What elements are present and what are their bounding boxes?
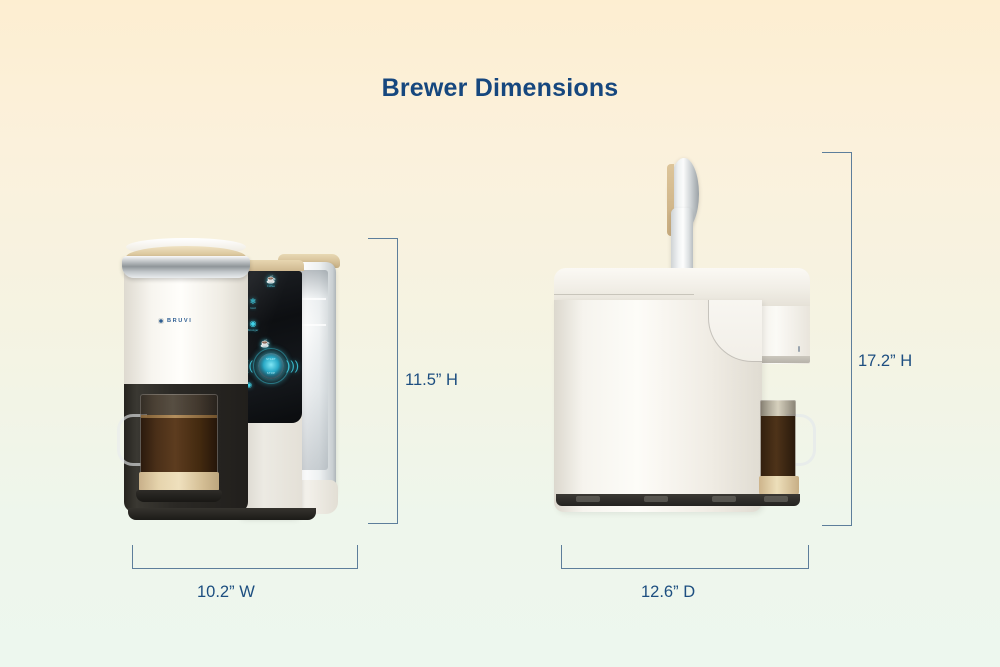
side-indicator-dot: [798, 346, 800, 352]
side-rear-shadow: [754, 356, 810, 363]
start-stop-button[interactable]: [258, 353, 284, 379]
front-view-brewer: ☕ Coffee ❄ Iced ◉ Stronger ☕ START STOP …: [112, 232, 368, 530]
front-height-label: 11.5” H: [405, 371, 458, 390]
brand-wordmark: BRUVI: [167, 318, 192, 324]
cup-size-icon[interactable]: ☕: [256, 340, 274, 348]
brand-mark-icon: [158, 318, 164, 324]
side-foot: [576, 496, 600, 502]
front-width-dimension-bracket: [132, 545, 358, 569]
stop-label: STOP: [258, 372, 284, 375]
side-foot: [644, 496, 668, 502]
mug-base-rim: [136, 490, 222, 502]
side-view-brewer: [548, 150, 848, 530]
sound-arc-right-icon: ))): [286, 358, 299, 373]
side-seam-line: [554, 294, 694, 295]
lid-chrome-handle[interactable]: [122, 256, 250, 278]
coffee-cup-icon[interactable]: ☕ Coffee: [258, 276, 284, 288]
page-title: Brewer Dimensions: [0, 74, 1000, 103]
side-foot: [712, 496, 736, 502]
side-height-dimension-bracket: [822, 152, 852, 526]
front-width-label: 10.2” W: [197, 583, 255, 602]
front-height-dimension-bracket: [368, 238, 398, 524]
brewer-body: [124, 268, 248, 390]
side-foot: [764, 496, 788, 502]
side-coffee-liquid: [761, 416, 795, 478]
side-depth-label: 12.6” D: [641, 583, 695, 602]
side-depth-dimension-bracket: [561, 545, 809, 569]
start-label: START: [258, 358, 284, 361]
side-mug-wood-band: [759, 476, 799, 496]
side-height-label: 17.2” H: [858, 352, 912, 371]
front-view-base: [128, 508, 316, 520]
brand-logo: BRUVI: [158, 318, 218, 324]
coffee-liquid: [141, 418, 217, 474]
